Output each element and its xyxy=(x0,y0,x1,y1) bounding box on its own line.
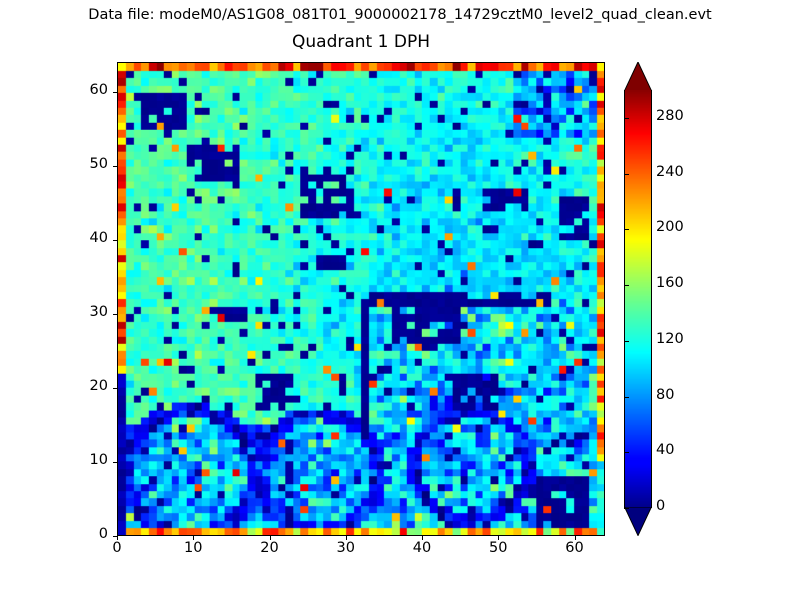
colorbar-tick xyxy=(624,118,629,119)
x-tick-label: 40 xyxy=(392,540,452,556)
colorbar-tick-label: 280 xyxy=(656,108,684,124)
y-tick-label: 20 xyxy=(48,378,108,394)
colorbar-extend-high-arrow-icon xyxy=(624,62,652,91)
y-tick-label: 50 xyxy=(48,156,108,172)
y-tick xyxy=(113,388,117,389)
colorbar-tick xyxy=(624,452,629,453)
data-file-suptitle: Data file: modeM0/AS1G08_081T01_90000021… xyxy=(0,7,800,23)
colorbar-tick xyxy=(624,397,629,398)
colorbar-tick-label: 40 xyxy=(656,442,674,458)
y-tick xyxy=(113,240,117,241)
colorbar-extend-low-arrow-icon xyxy=(624,507,652,536)
colorbar-tick xyxy=(624,508,629,509)
colorbar-gradient xyxy=(625,90,651,508)
colorbar-tick-label: 160 xyxy=(656,275,684,291)
y-tick xyxy=(113,92,117,93)
y-tick xyxy=(113,166,117,167)
x-tick-label: 0 xyxy=(87,540,147,556)
y-tick-label: 60 xyxy=(48,82,108,98)
y-tick xyxy=(113,536,117,537)
x-tick-label: 30 xyxy=(316,540,376,556)
matplotlib-figure: Data file: modeM0/AS1G08_081T01_90000021… xyxy=(0,0,800,600)
y-tick-label: 10 xyxy=(48,452,108,468)
x-tick-label: 50 xyxy=(468,540,528,556)
y-tick-label: 30 xyxy=(48,304,108,320)
colorbar-gradient-body xyxy=(624,90,652,508)
colorbar-tick-label: 80 xyxy=(656,387,674,403)
y-tick-label: 40 xyxy=(48,230,108,246)
colorbar-tick xyxy=(624,341,629,342)
x-tick-label: 10 xyxy=(163,540,223,556)
colorbar-tick xyxy=(624,174,629,175)
colorbar xyxy=(624,62,652,536)
x-tick-label: 20 xyxy=(240,540,300,556)
colorbar-tick-label: 240 xyxy=(656,164,684,180)
y-tick xyxy=(113,462,117,463)
colorbar-tick-label: 120 xyxy=(656,331,684,347)
page-title: Quadrant 1 DPH xyxy=(117,32,605,52)
y-tick xyxy=(113,314,117,315)
dph-heatmap-image xyxy=(118,63,604,535)
x-tick-label: 60 xyxy=(545,540,605,556)
dph-heatmap-axes xyxy=(117,62,605,536)
colorbar-tick-label: 0 xyxy=(656,498,665,514)
colorbar-tick xyxy=(624,285,629,286)
colorbar-tick-label: 200 xyxy=(656,219,684,235)
y-tick-label: 0 xyxy=(48,526,108,542)
colorbar-tick xyxy=(624,229,629,230)
